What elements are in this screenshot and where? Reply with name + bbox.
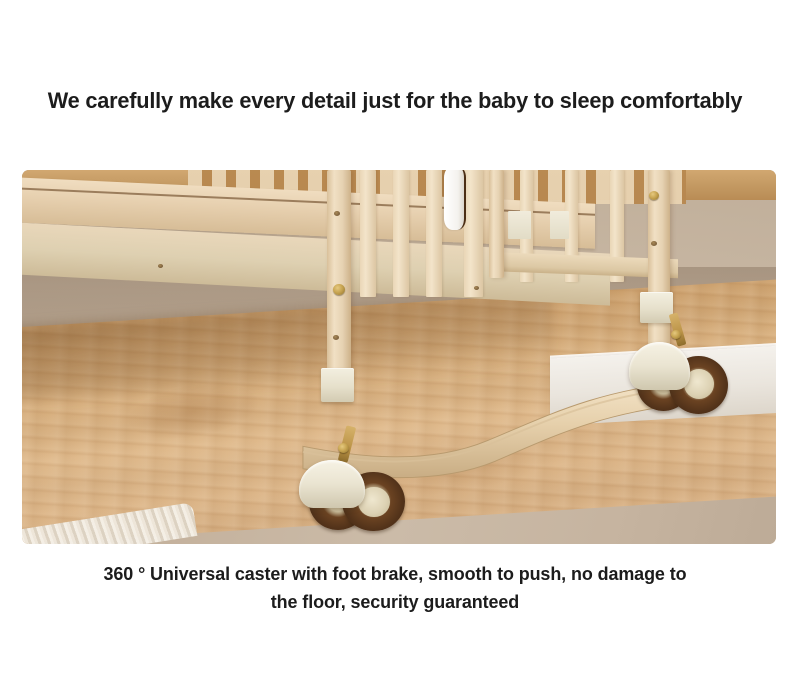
foot-cap-right	[640, 292, 673, 324]
caster-housing	[299, 460, 365, 508]
caster-front	[297, 454, 410, 544]
caption-line-1: 360 ° Universal caster with foot brake, …	[104, 563, 687, 584]
corner-post-left	[327, 170, 350, 383]
caster-rear	[629, 338, 735, 424]
caption-line-2: the floor, security guaranteed	[12, 588, 778, 616]
vertical-slat	[426, 170, 442, 297]
caster-stem	[669, 312, 687, 346]
mount-bracket	[508, 211, 531, 239]
white-label	[444, 170, 466, 230]
product-photo	[22, 170, 776, 544]
brass-screw	[333, 284, 345, 295]
page-headline: We carefully make every detail just for …	[14, 86, 776, 116]
photo-caption: 360 ° Universal caster with foot brake, …	[12, 560, 778, 616]
product-detail-page: We carefully make every detail just for …	[0, 0, 790, 679]
vertical-slat	[393, 170, 409, 297]
vertical-slat	[464, 170, 484, 297]
crib-structure	[22, 170, 776, 544]
mount-bracket	[550, 211, 570, 239]
brass-screw	[158, 264, 163, 268]
brass-screw	[333, 335, 339, 340]
corner-post-middle	[489, 170, 503, 278]
brass-screw	[651, 241, 657, 246]
caster-stem-screw	[671, 330, 681, 339]
caster-housing	[629, 342, 690, 390]
vertical-slat	[360, 170, 376, 297]
brass-screw	[649, 191, 659, 200]
